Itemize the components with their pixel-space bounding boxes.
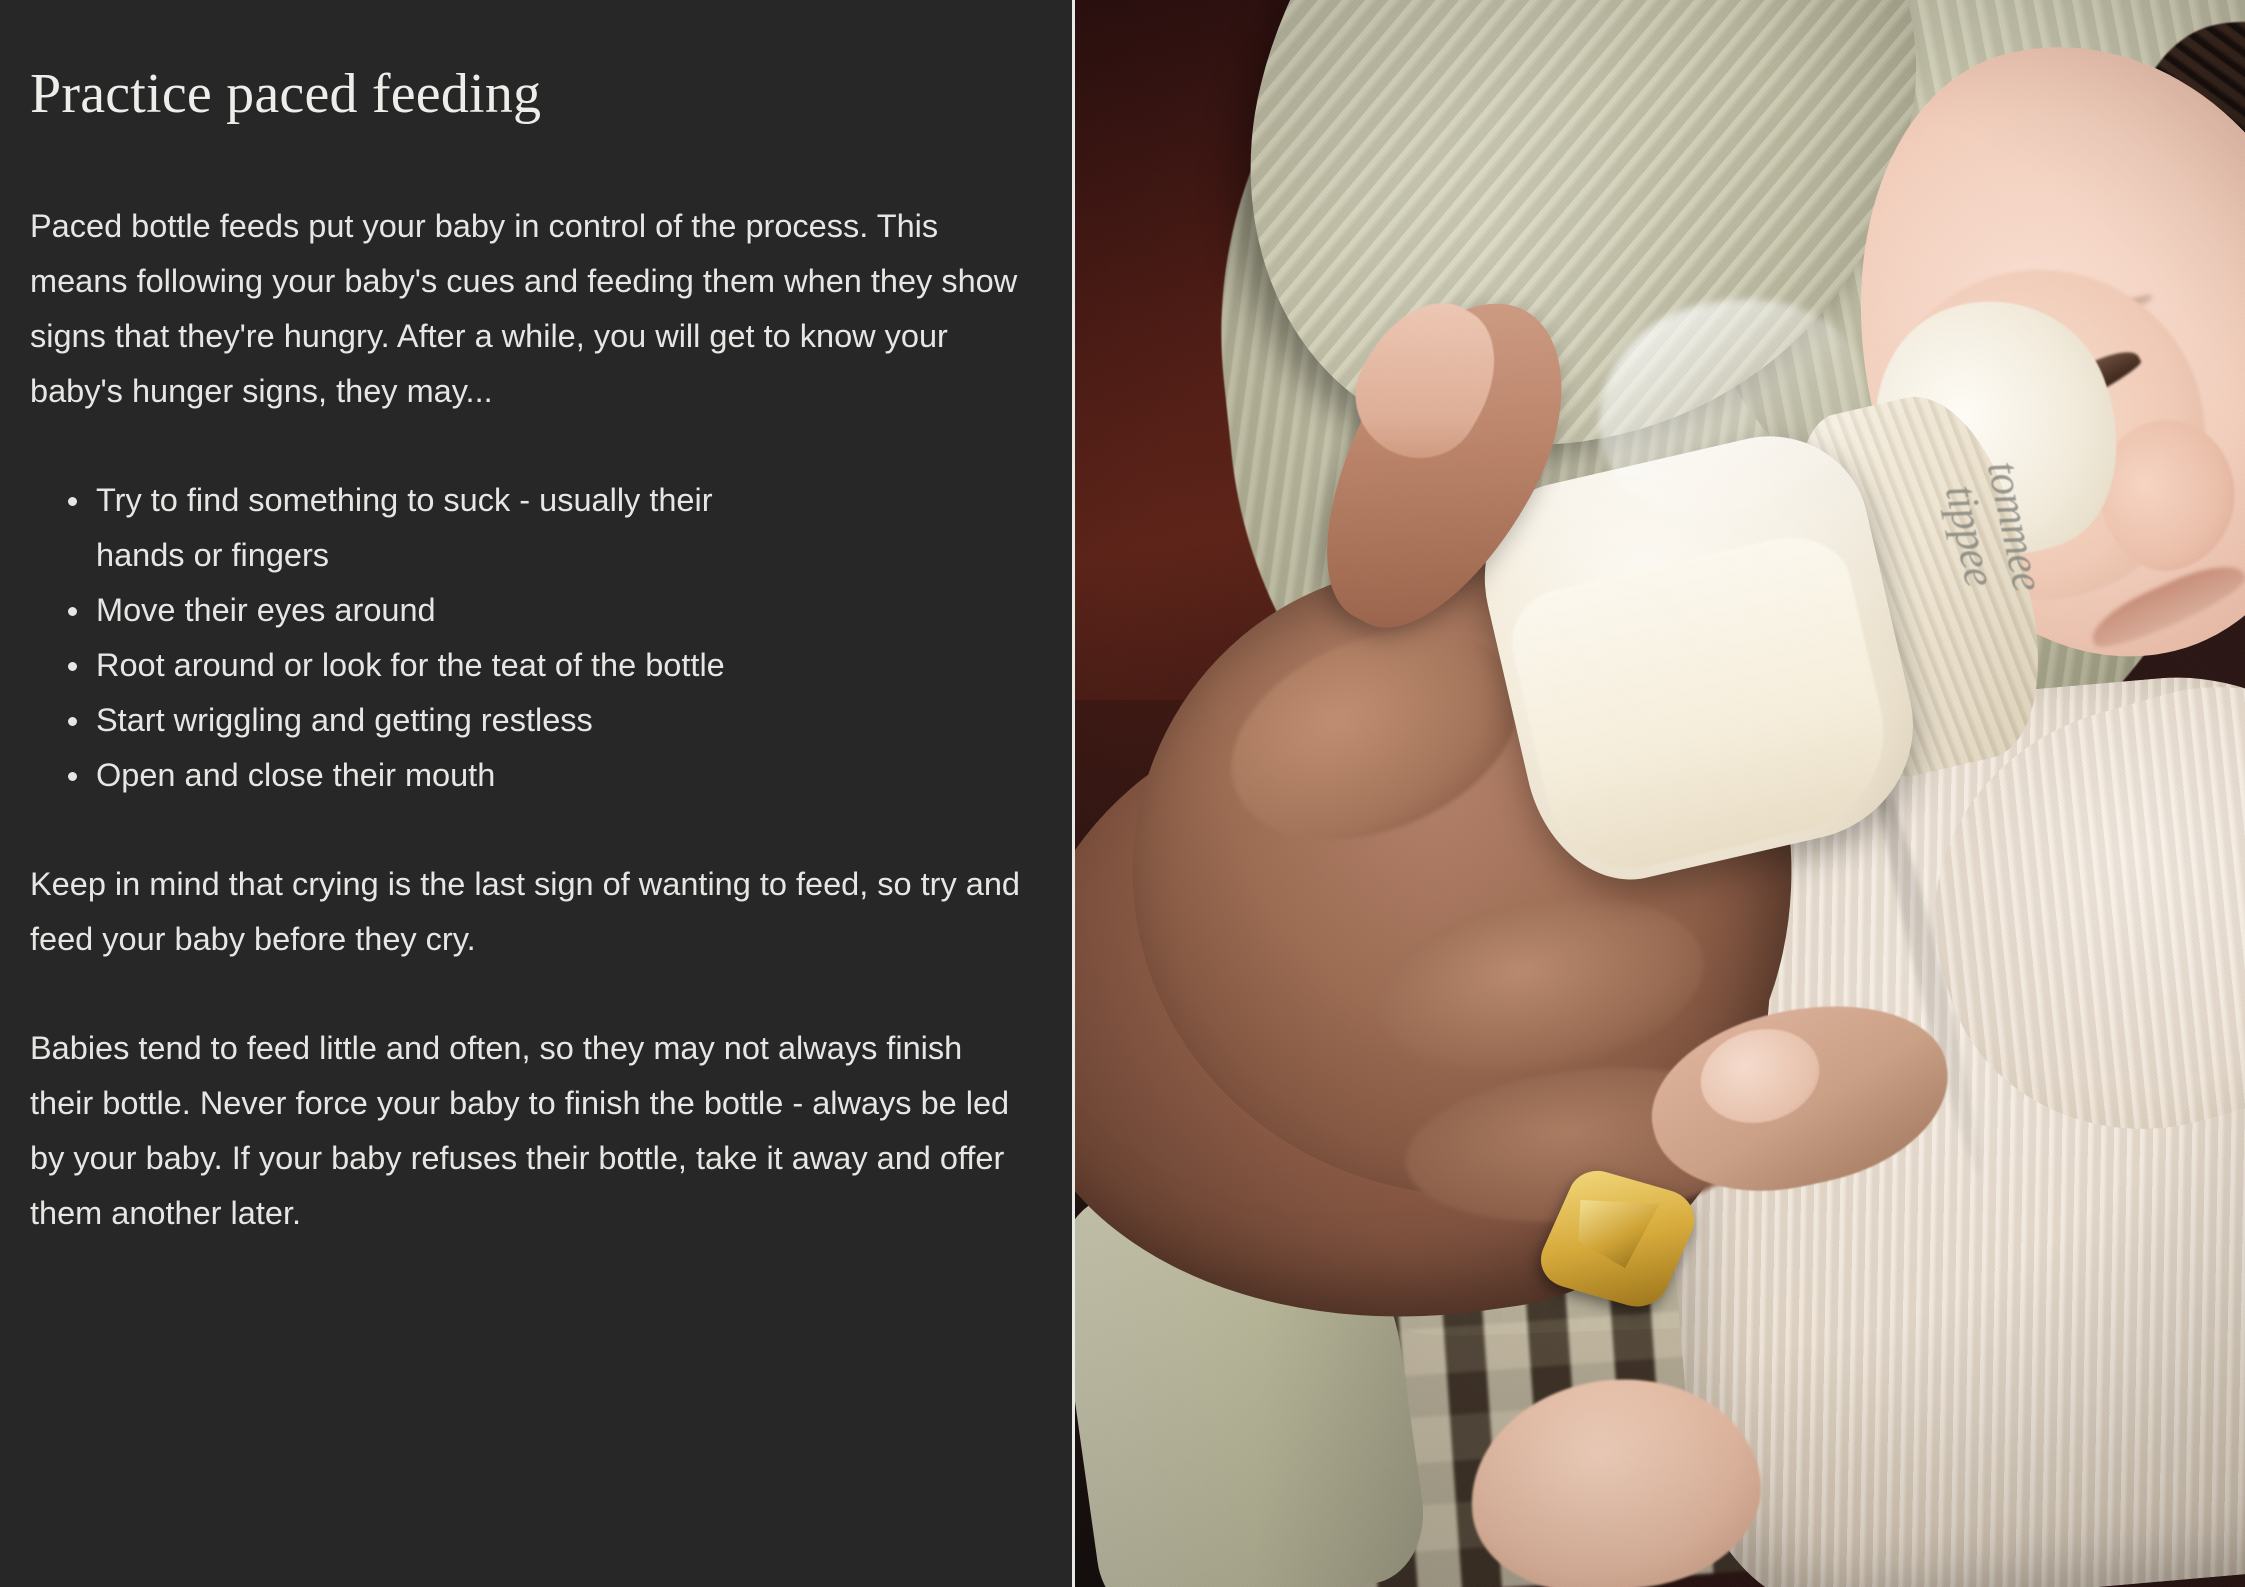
list-item: Root around or look for the teat of the … [68,638,788,693]
list-item: Open and close their mouth [68,748,788,803]
hunger-signs-list: Try to find something to suck - usually … [30,473,1030,803]
list-item-label: Try to find something to suck - usually … [96,482,713,573]
feeding-amount-paragraph: Babies tend to feed little and often, so… [30,1021,1030,1241]
bullet-icon [68,662,77,671]
crying-note-paragraph: Keep in mind that crying is the last sig… [30,857,1030,967]
article-page: Practice paced feeding Paced bottle feed… [0,0,2245,1587]
list-item-label: Open and close their mouth [96,757,495,793]
page-title: Practice paced feeding [30,62,1032,126]
article-text-panel: Practice paced feeding Paced bottle feed… [0,0,1075,1587]
list-item-label: Move their eyes around [96,592,436,628]
list-item-label: Start wriggling and getting restless [96,702,593,738]
bullet-icon [68,607,77,616]
bullet-icon [68,717,77,726]
list-item: Move their eyes around [68,583,788,638]
feeding-photo: tommee tippee [1075,0,2245,1587]
bullet-icon [68,772,77,781]
photo-illustration: tommee tippee [1075,0,2245,1587]
list-item: Start wriggling and getting restless [68,693,788,748]
article-body: Paced bottle feeds put your baby in cont… [30,199,1030,1241]
intro-paragraph: Paced bottle feeds put your baby in cont… [30,199,1030,419]
list-item-label: Root around or look for the teat of the … [96,647,725,683]
list-item: Try to find something to suck - usually … [68,473,788,583]
bullet-icon [68,497,77,506]
